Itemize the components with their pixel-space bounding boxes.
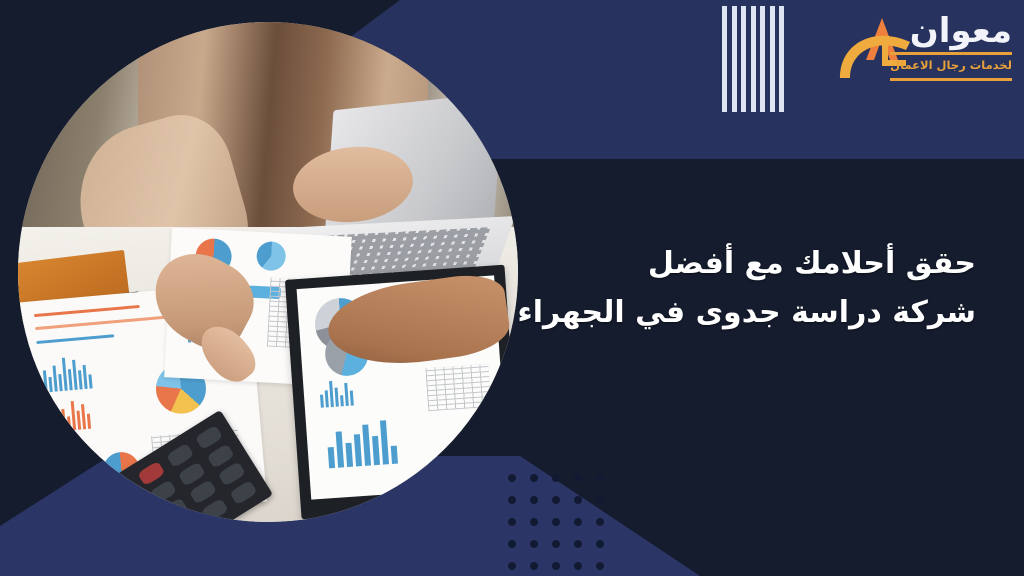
- grid-dot: [552, 496, 560, 504]
- photo-pie-chart: [256, 241, 286, 271]
- grid-dot: [552, 562, 560, 570]
- logo-divider-top: [890, 52, 1012, 55]
- grid-dot: [530, 562, 538, 570]
- promo-banner: معوان لخدمات رجال الاعمال حقق أحلامك مع …: [0, 0, 1024, 576]
- grid-dot: [552, 540, 560, 548]
- stripe-bar: [770, 6, 775, 112]
- logo-divider-bottom: [890, 78, 1012, 81]
- photo-bar-chart: [319, 378, 354, 408]
- photo-pie-chart: [50, 442, 92, 484]
- grid-dot: [574, 496, 582, 504]
- photo-bar-chart: [42, 354, 93, 393]
- photo-data-table: [425, 364, 491, 411]
- logo-wordmark: معوان: [910, 14, 1012, 48]
- photo-bar-chart: [326, 417, 398, 468]
- photo-chart-rule: [35, 315, 177, 330]
- stripe-bar: [760, 6, 765, 112]
- grid-dot: [552, 474, 560, 482]
- stripe-bar: [779, 6, 784, 112]
- stripe-bar: [741, 6, 746, 112]
- grid-dot: [530, 496, 538, 504]
- grid-dot: [530, 540, 538, 548]
- logo-tagline: لخدمات رجال الاعمال: [890, 60, 1012, 72]
- photo-bar-chart: [51, 398, 92, 432]
- grid-dot: [574, 562, 582, 570]
- vertical-stripes-decoration: [722, 6, 784, 112]
- grid-dot: [508, 540, 516, 548]
- grid-dot: [574, 518, 582, 526]
- grid-dot: [596, 562, 604, 570]
- grid-dot: [530, 474, 538, 482]
- grid-dot: [596, 496, 604, 504]
- hero-photo: [18, 22, 518, 522]
- grid-dot: [552, 518, 560, 526]
- grid-dot: [530, 518, 538, 526]
- dot-grid-decoration: [506, 474, 604, 572]
- grid-dot: [574, 474, 582, 482]
- photo-chart-rule: [36, 334, 114, 344]
- photo-chart-rule: [34, 305, 140, 317]
- stripe-bar: [722, 6, 727, 112]
- grid-dot: [596, 540, 604, 548]
- stripe-bar: [732, 6, 737, 112]
- grid-dot: [508, 562, 516, 570]
- grid-dot: [574, 540, 582, 548]
- grid-dot: [596, 474, 604, 482]
- brand-logo[interactable]: معوان لخدمات رجال الاعمال: [836, 8, 1012, 104]
- hero-photo-scene: [18, 22, 518, 522]
- grid-dot: [596, 518, 604, 526]
- stripe-bar: [751, 6, 756, 112]
